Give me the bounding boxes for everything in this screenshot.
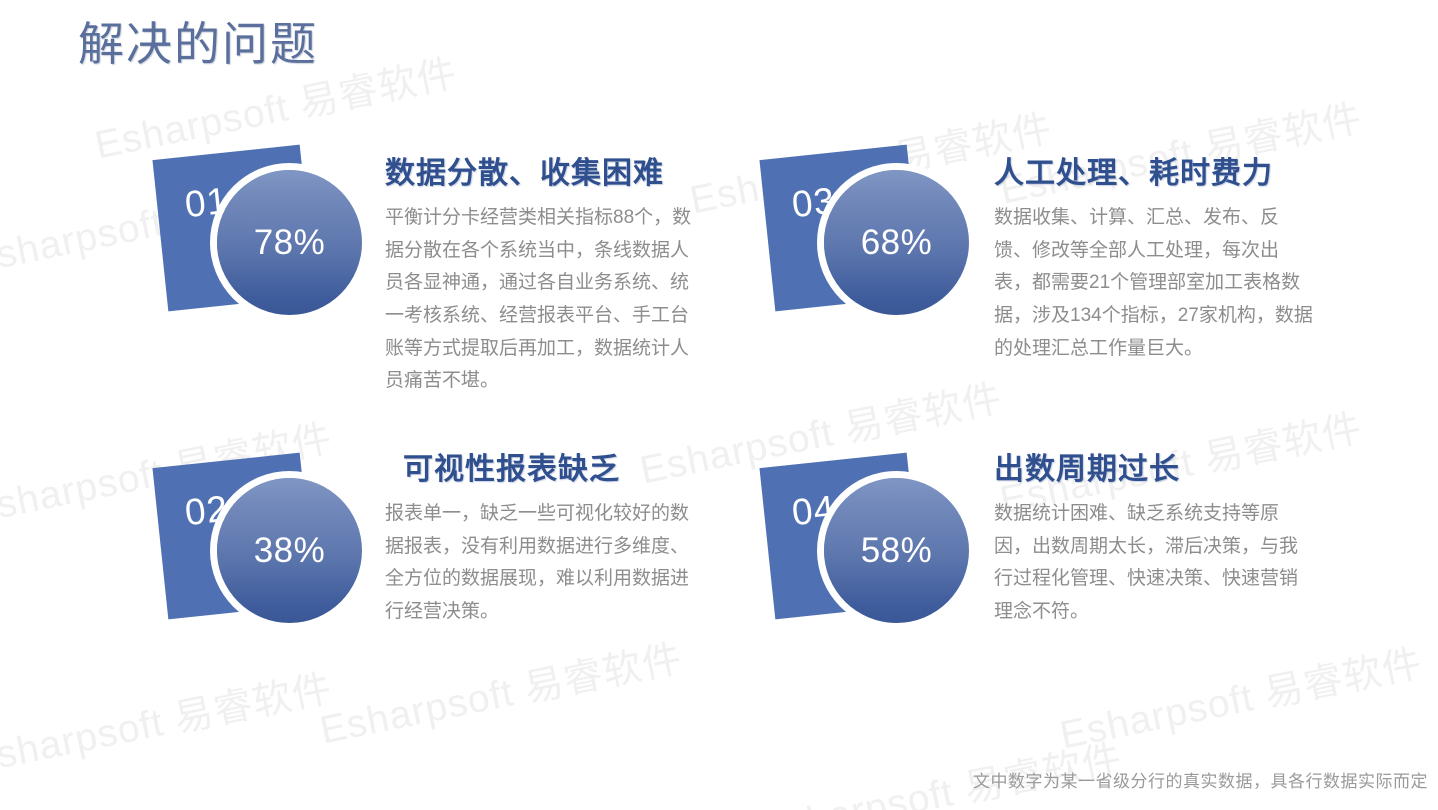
badge-04: 04 58% bbox=[762, 452, 980, 648]
badge-percent-02: 38% bbox=[254, 531, 326, 571]
badge-01: 01 78% bbox=[155, 144, 373, 340]
badge-percent-01: 78% bbox=[254, 223, 326, 263]
badge-circle-02: 38% bbox=[217, 478, 362, 623]
footnote: 文中数字为某一省级分行的真实数据，具各行数据实际而定 bbox=[973, 767, 1428, 792]
item-text-03: 人工处理、耗时费力 数据收集、计算、汇总、发布、反馈、修改等全部人工处理，每次出… bbox=[994, 156, 1316, 365]
item-body-03: 数据收集、计算、汇总、发布、反馈、修改等全部人工处理，每次出表，都需要21个管理… bbox=[994, 202, 1316, 365]
badge-percent-04: 58% bbox=[861, 531, 933, 571]
item-text-02: 可视性报表缺乏 报表单一，缺乏一些可视化较好的数据报表，没有利用数据进行多维度、… bbox=[385, 452, 693, 629]
item-text-01: 数据分散、收集困难 平衡计分卡经营类相关指标88个，数据分散在各个系统当中，条线… bbox=[385, 156, 693, 398]
item-heading-03: 人工处理、耗时费力 bbox=[994, 156, 1316, 192]
item-body-04: 数据统计困难、缺乏系统支持等原因，出数周期太长，滞后决策，与我行过程化管理、快速… bbox=[994, 498, 1316, 629]
slide-canvas: 解决的问题 01 78% 数据分散、收集困难 平衡计分卡经营类相关指标88个，数… bbox=[0, 0, 1438, 810]
badge-percent-03: 68% bbox=[861, 223, 933, 263]
item-body-01: 平衡计分卡经营类相关指标88个，数据分散在各个系统当中，条线数据人员各显神通，通… bbox=[385, 202, 693, 398]
item-heading-02: 可视性报表缺乏 bbox=[385, 452, 693, 488]
item-text-04: 出数周期过长 数据统计困难、缺乏系统支持等原因，出数周期太长，滞后决策，与我行过… bbox=[994, 452, 1316, 629]
badge-03: 03 68% bbox=[762, 144, 980, 340]
item-heading-04: 出数周期过长 bbox=[994, 452, 1316, 488]
badge-circle-03: 68% bbox=[824, 170, 969, 315]
badge-02: 02 38% bbox=[155, 452, 373, 648]
item-heading-01: 数据分散、收集困难 bbox=[385, 156, 693, 192]
page-title: 解决的问题 bbox=[78, 16, 318, 74]
badge-circle-04: 58% bbox=[824, 478, 969, 623]
item-body-02: 报表单一，缺乏一些可视化较好的数据报表，没有利用数据进行多维度、全方位的数据展现… bbox=[385, 498, 693, 629]
badge-circle-01: 78% bbox=[217, 170, 362, 315]
